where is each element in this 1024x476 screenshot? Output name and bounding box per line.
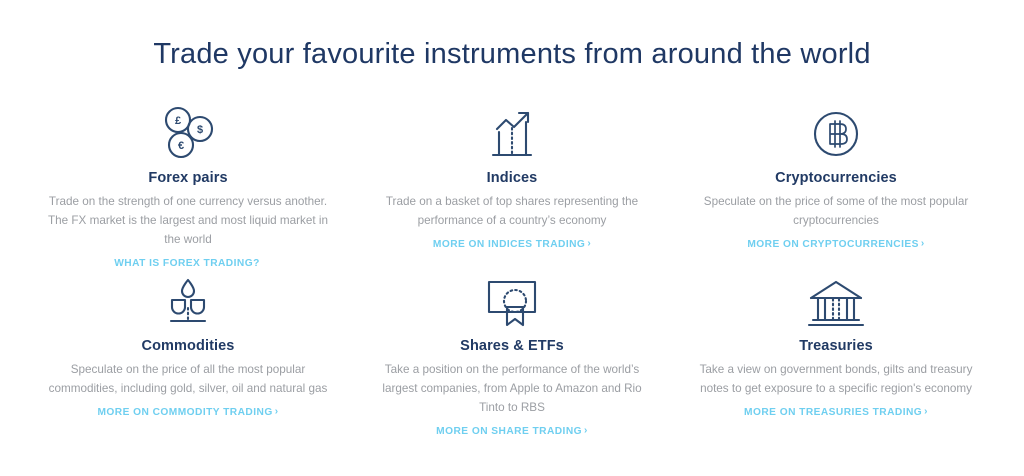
card-link-cryptocurrencies[interactable]: MORE ON CRYPTOCURRENCIES › (747, 239, 924, 250)
commodities-plant-droplet-icon (160, 270, 216, 330)
indices-bar-chart-icon (481, 102, 543, 162)
card-title: Indices (487, 170, 538, 186)
card-link-label: WHAT IS FOREX TRADING? (114, 258, 260, 269)
card-description: Trade on a basket of top shares represen… (372, 193, 652, 231)
svg-text:€: € (178, 140, 184, 152)
card-description: Trade on the strength of one currency ve… (48, 193, 328, 250)
bitcoin-circle-icon (805, 102, 867, 162)
card-title: Forex pairs (148, 170, 227, 186)
card-title: Cryptocurrencies (775, 170, 897, 186)
card-link-shares[interactable]: MORE ON SHARE TRADING › (436, 426, 588, 437)
chevron-right-icon: › (587, 239, 591, 249)
card-link-treasuries[interactable]: MORE ON TREASURIES TRADING › (744, 407, 928, 418)
card-title: Commodities (142, 338, 235, 354)
instrument-card-forex-pairs[interactable]: £ $ € Forex pairs Trade on the strength … (26, 102, 350, 270)
card-link-indices[interactable]: MORE ON INDICES TRADING › (433, 239, 591, 250)
card-link-label: MORE ON TREASURIES TRADING (744, 407, 922, 418)
card-link-label: MORE ON CRYPTOCURRENCIES (747, 239, 919, 250)
card-description: Speculate on the price of some of the mo… (696, 193, 976, 231)
card-title: Shares & ETFs (460, 338, 564, 354)
card-link-forex[interactable]: WHAT IS FOREX TRADING? (114, 258, 262, 269)
chevron-right-icon: › (924, 407, 928, 417)
chevron-right-icon: › (921, 239, 925, 249)
instruments-section: Trade your favourite instruments from ar… (0, 37, 1024, 476)
card-link-label: MORE ON SHARE TRADING (436, 426, 582, 437)
card-link-label: MORE ON COMMODITY TRADING (98, 407, 273, 418)
card-title: Treasuries (799, 338, 873, 354)
card-link-commodities[interactable]: MORE ON COMMODITY TRADING › (98, 407, 279, 418)
instrument-card-cryptocurrencies[interactable]: Cryptocurrencies Speculate on the price … (674, 102, 998, 270)
instrument-card-shares-etfs[interactable]: Shares & ETFs Take a position on the per… (350, 270, 674, 438)
card-description: Speculate on the price of all the most p… (48, 361, 328, 399)
forex-coins-icon: £ $ € (157, 102, 219, 162)
instrument-card-grid: £ $ € Forex pairs Trade on the strength … (0, 102, 1024, 438)
card-description: Take a view on government bonds, gilts a… (696, 361, 976, 399)
treasuries-bank-building-icon (803, 270, 869, 330)
share-certificate-seal-icon (479, 270, 545, 330)
card-description: Take a position on the performance of th… (372, 361, 652, 418)
page-title: Trade your favourite instruments from ar… (0, 37, 1024, 72)
svg-text:$: $ (197, 124, 203, 136)
chevron-right-icon: › (584, 426, 588, 436)
chevron-right-icon: › (275, 407, 279, 417)
svg-text:£: £ (175, 115, 181, 127)
instrument-card-indices[interactable]: Indices Trade on a basket of top shares … (350, 102, 674, 270)
instrument-card-treasuries[interactable]: Treasuries Take a view on government bon… (674, 270, 998, 438)
card-link-label: MORE ON INDICES TRADING (433, 239, 585, 250)
instrument-card-commodities[interactable]: Commodities Speculate on the price of al… (26, 270, 350, 438)
